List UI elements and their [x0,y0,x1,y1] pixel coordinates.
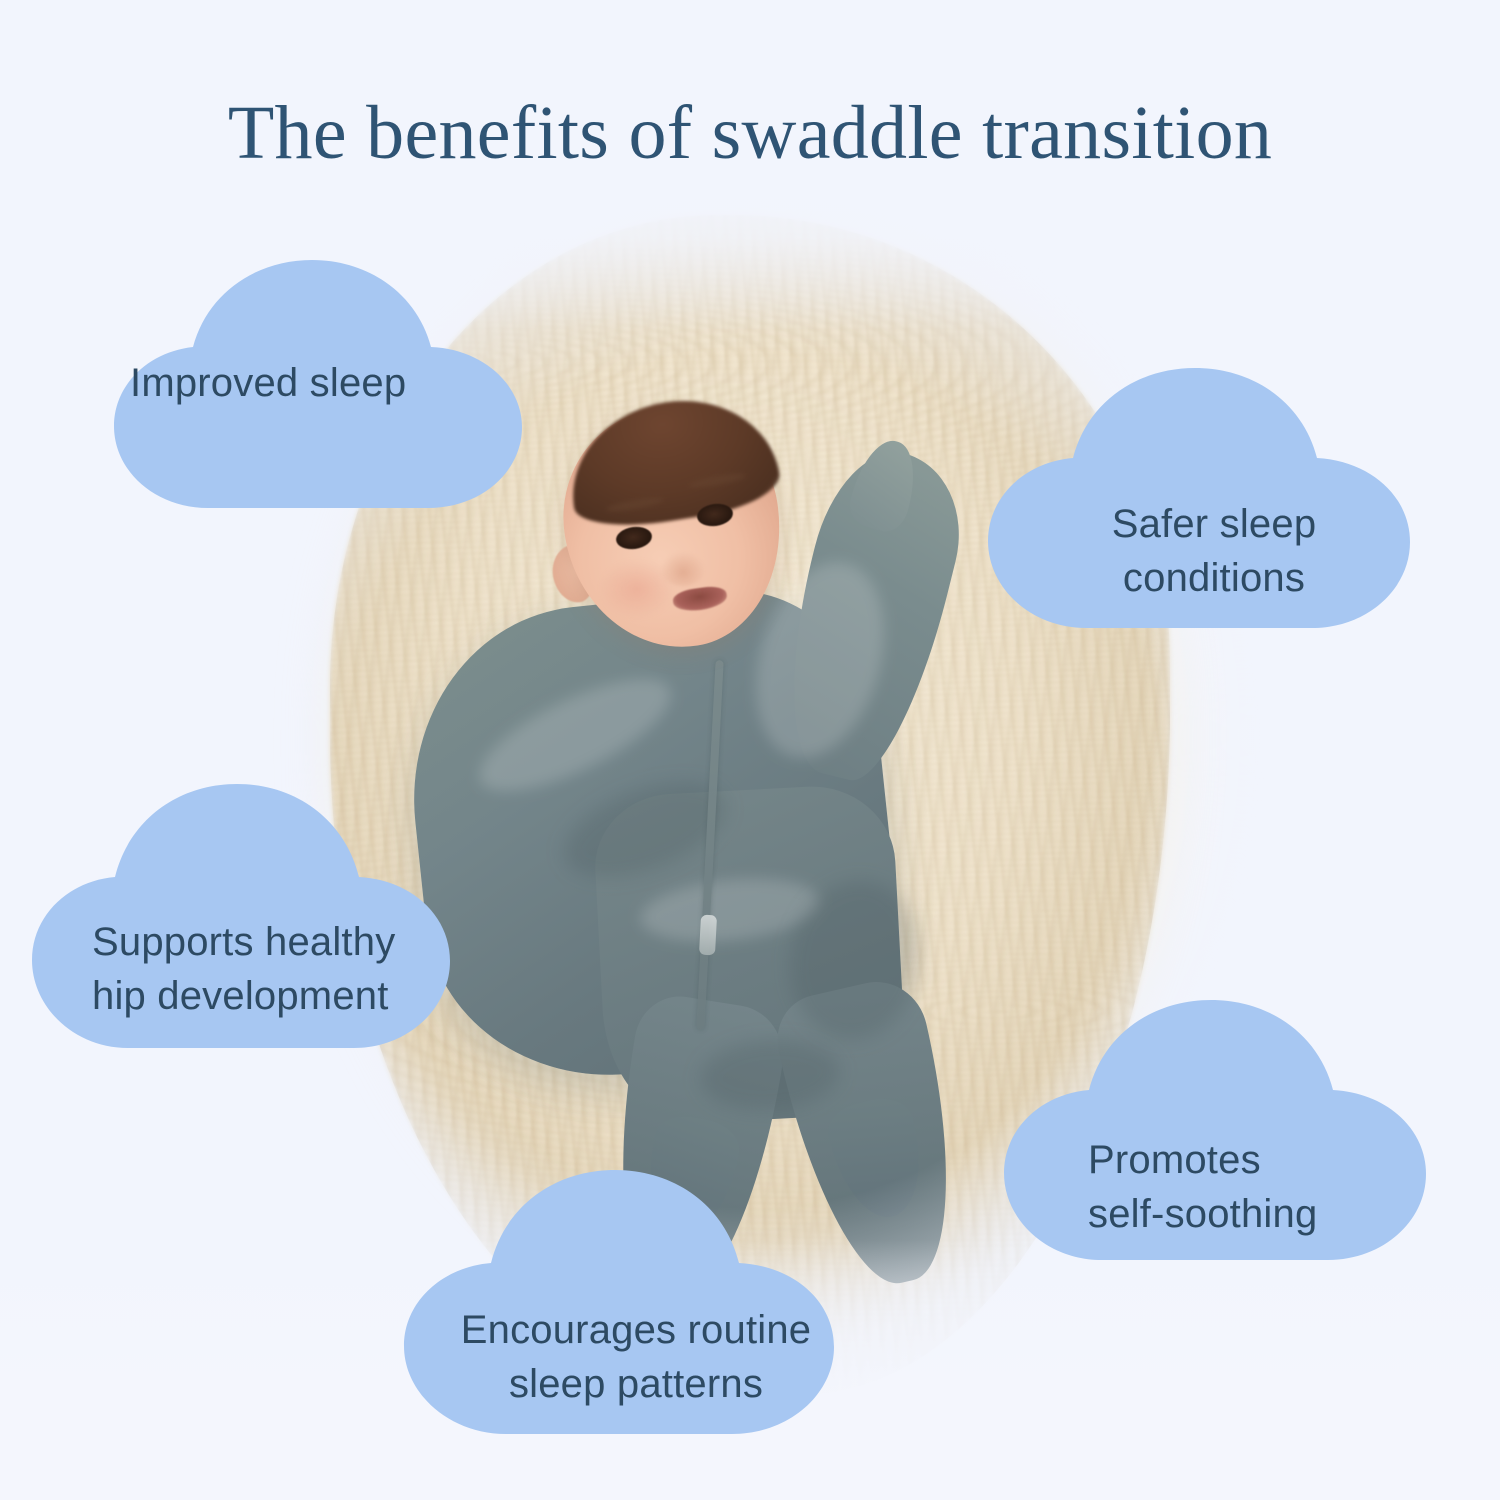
cloud-label-self-soothing: Promotes self-soothing [1002,998,1500,1318]
cloud-badge-routine-patterns[interactable]: Encourages routine sleep patterns [402,1168,870,1434]
cloud-badge-improved-sleep[interactable]: Improved sleep [112,258,562,508]
cloud-label-safer-sleep: Safer sleep conditions [986,366,1442,682]
cloud-label-hip-development: Supports healthy hip development [30,782,544,1102]
cloud-badge-safer-sleep[interactable]: Safer sleep conditions [986,366,1442,628]
page-title: The benefits of swaddle transition [0,94,1500,174]
cloud-label-improved-sleep: Improved sleep [112,258,580,514]
cloud-badge-self-soothing[interactable]: Promotes self-soothing [1002,998,1458,1260]
cloud-badge-hip-development[interactable]: Supports healthy hip development [30,782,482,1048]
infographic-canvas: The benefits of swaddle transition Impro… [0,0,1500,1500]
cloud-label-routine-patterns: Encourages routine sleep patterns [402,1168,870,1490]
